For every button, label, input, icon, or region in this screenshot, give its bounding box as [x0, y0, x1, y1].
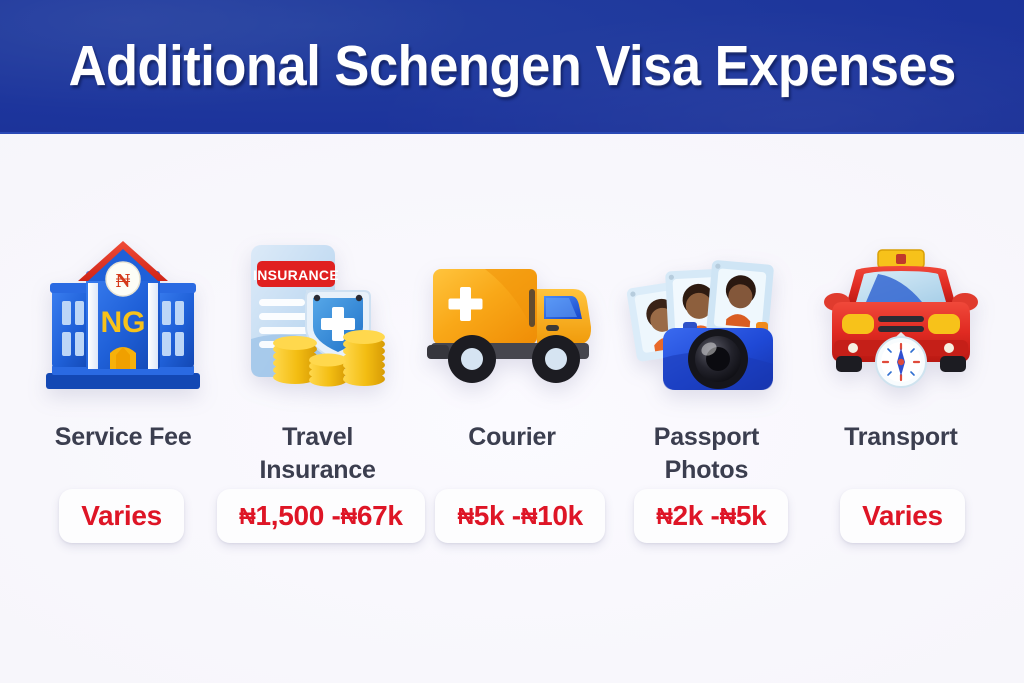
- price-cell: ₦5k - ₦10k: [425, 489, 616, 543]
- price-badge-transport[interactable]: Varies: [840, 489, 965, 543]
- expense-column-transport: Transport: [804, 134, 998, 454]
- header-banner: Additional Schengen Visa Expenses: [0, 0, 1024, 134]
- infographic-poster: Additional Schengen Visa Expenses: [0, 0, 1024, 683]
- page-title: Additional Schengen Visa Expenses: [68, 38, 955, 95]
- expense-label: Courier: [468, 421, 556, 454]
- price-badge-travel-insurance[interactable]: ₦1,500 - ₦67k: [217, 489, 425, 543]
- price-badge-service-fee[interactable]: Varies: [59, 489, 184, 543]
- price-badge-courier[interactable]: ₦5k - ₦10k: [435, 489, 605, 543]
- travel-insurance-icon: INSURANCE: [220, 232, 414, 407]
- svg-text:₦: ₦: [116, 270, 131, 292]
- price-badge-passport-photos[interactable]: ₦2k - ₦5k: [634, 489, 788, 543]
- price-row: Varies ₦1,500 - ₦67k ₦5k - ₦10k ₦2k - ₦5…: [0, 488, 1024, 544]
- embassy-building-icon: ₦ NG: [26, 232, 220, 407]
- price-cell: ₦1,500 - ₦67k: [217, 489, 425, 543]
- expense-columns: ₦ NG Service Fee: [0, 134, 1024, 683]
- expense-label: Travel Insurance: [243, 421, 393, 487]
- price-cell: Varies: [26, 489, 217, 543]
- expense-label: Passport Photos: [631, 421, 781, 487]
- svg-text:INSURANCE: INSURANCE: [253, 267, 339, 283]
- passport-photos-icon: [609, 232, 803, 407]
- transport-taxi-icon: [804, 232, 998, 407]
- expense-label: Service Fee: [55, 421, 192, 454]
- expense-column-courier: Courier: [415, 134, 609, 454]
- price-cell: ₦2k - ₦5k: [616, 489, 807, 543]
- courier-truck-icon: [415, 232, 609, 407]
- expense-column-service-fee: ₦ NG Service Fee: [26, 134, 220, 454]
- expense-column-passport-photos: Passport Photos: [609, 134, 803, 487]
- price-cell: Varies: [807, 489, 998, 543]
- svg-text:NG: NG: [101, 306, 146, 339]
- expense-column-travel-insurance: INSURANCE: [220, 134, 414, 487]
- expense-label: Transport: [844, 421, 958, 454]
